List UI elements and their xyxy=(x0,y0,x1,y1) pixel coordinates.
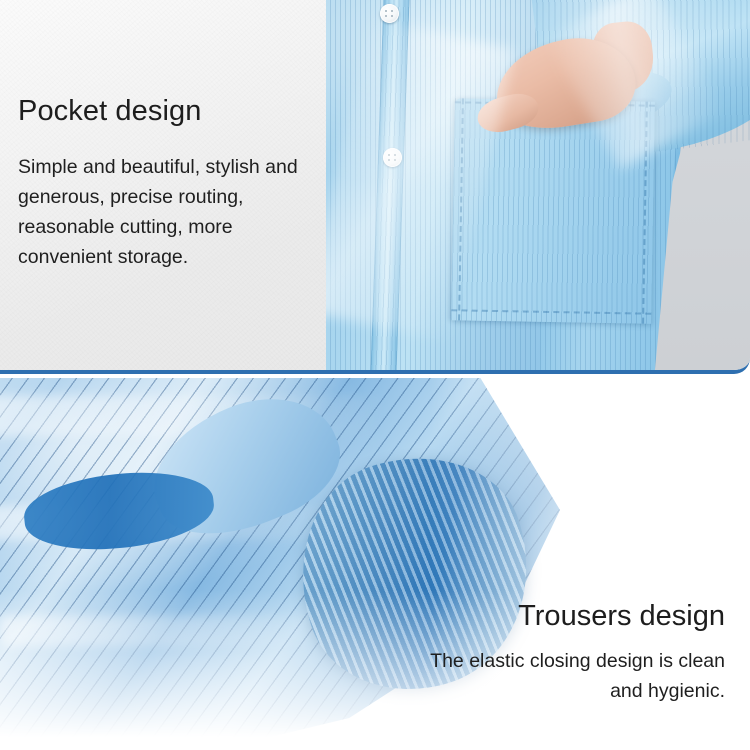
patch-pocket xyxy=(451,98,655,323)
shirt-button-icon xyxy=(380,4,399,23)
stripe-texture xyxy=(451,98,655,323)
pocket-body-text: Simple and beautiful, stylish and genero… xyxy=(18,152,318,272)
trousers-feature-panel: Trousers design The elastic closing desi… xyxy=(0,378,750,750)
product-feature-image: Pocket design Simple and beautiful, styl… xyxy=(0,0,750,750)
pocket-seam xyxy=(642,102,648,324)
pocket-heading: Pocket design xyxy=(18,95,201,128)
trousers-body-text: The elastic closing design is clean and … xyxy=(395,646,725,706)
pocket-seam xyxy=(458,98,464,320)
trousers-heading: Trousers design xyxy=(518,600,725,633)
pocket-text-card: Pocket design Simple and beautiful, styl… xyxy=(0,0,326,370)
fabric-fold xyxy=(0,616,330,646)
pocket-photo xyxy=(325,0,750,370)
pocket-hem xyxy=(451,309,651,314)
shirt-button-icon xyxy=(383,148,402,167)
pocket-feature-panel: Pocket design Simple and beautiful, styl… xyxy=(0,0,750,374)
